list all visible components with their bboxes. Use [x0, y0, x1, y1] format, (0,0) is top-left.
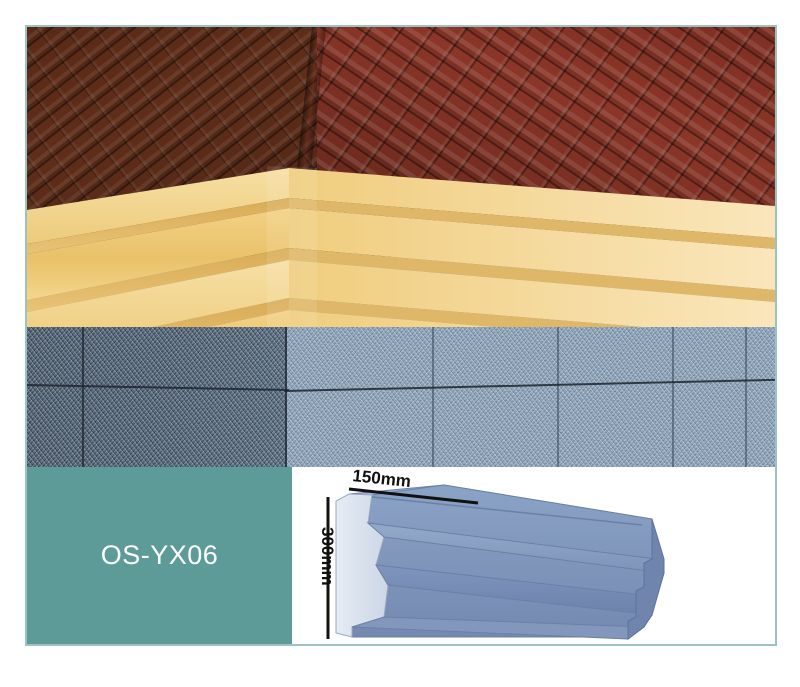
product-image-card: OS-YX06	[25, 25, 777, 646]
cornice-corner-highlight	[267, 166, 317, 352]
height-dimension-label: 300mm	[318, 527, 337, 586]
profile-diagram-panel: 150mm 300mm	[292, 467, 775, 644]
wall-tile-joint	[745, 327, 747, 467]
wall-tile-joint	[285, 327, 287, 467]
wall-tile-joint	[82, 327, 84, 467]
product-code-label: OS-YX06	[101, 540, 219, 571]
cornice-profile-drawing: 150mm 300mm	[292, 467, 775, 644]
wall-tile-joint	[672, 327, 674, 467]
product-code-panel: OS-YX06	[27, 467, 292, 644]
wall-tile-joint	[432, 327, 434, 467]
wall-left-shadow-texture	[27, 327, 287, 467]
product-photo	[27, 27, 775, 467]
wall-tile-joint	[557, 327, 559, 467]
product-info-row: OS-YX06	[27, 467, 775, 644]
width-dimension-label: 150mm	[352, 467, 412, 491]
